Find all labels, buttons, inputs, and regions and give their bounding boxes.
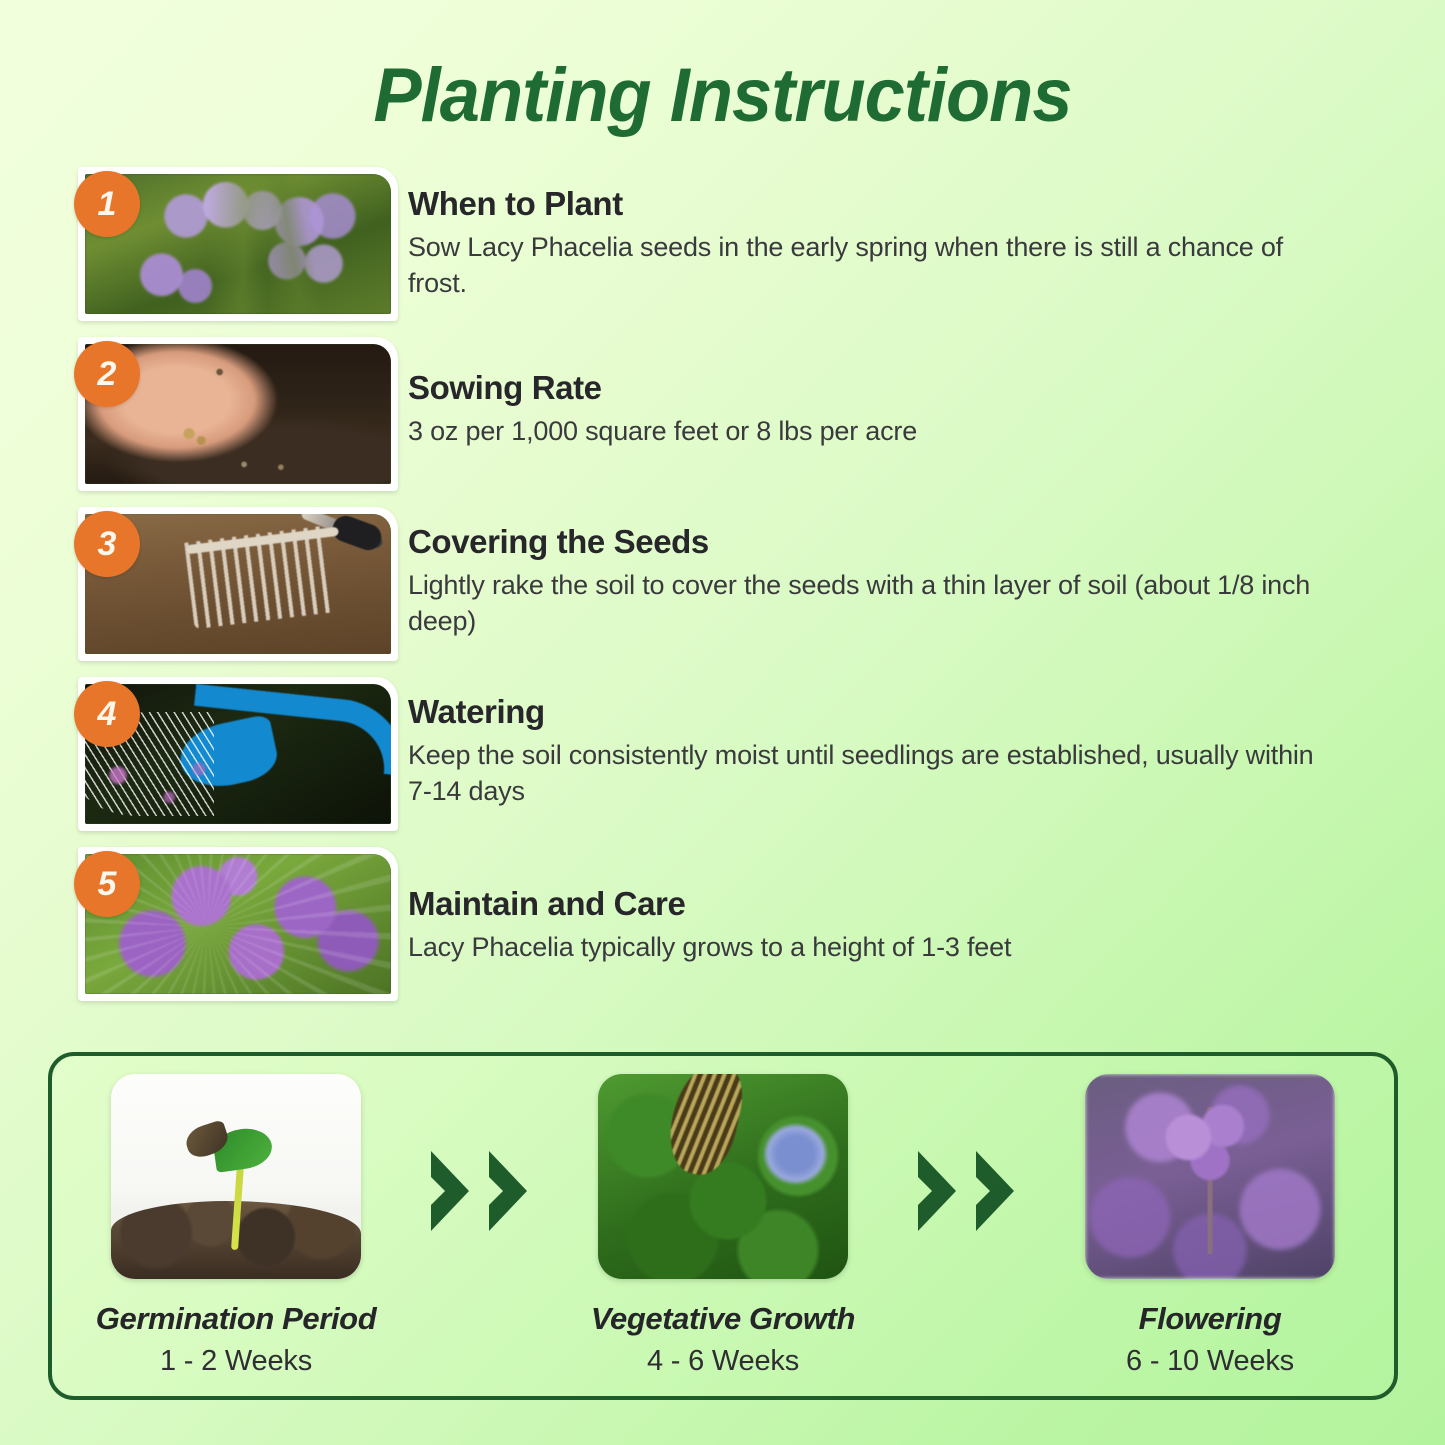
- step-number-badge-4: 4: [74, 681, 140, 747]
- step-text-3: Covering the Seeds Lightly rake the soil…: [350, 507, 1330, 640]
- step-item-3: 3 Covering the Seeds Lightly rake the so…: [0, 507, 1445, 677]
- step-title-5: Maintain and Care: [408, 885, 1011, 923]
- step-media-5: 5: [0, 847, 350, 1001]
- timeline-label-flowering: Flowering: [1139, 1301, 1282, 1337]
- timeline-label-germination: Germination Period: [96, 1301, 376, 1337]
- step-text-5: Maintain and Care Lacy Phacelia typicall…: [350, 847, 1011, 965]
- step-item-4: 4 Watering Keep the soil consistently mo…: [0, 677, 1445, 847]
- step-title-1: When to Plant: [408, 185, 1330, 223]
- timeline-stage-germination: Germination Period 1 - 2 Weeks: [86, 1074, 386, 1378]
- timeline-stage-vegetative: Vegetative Growth 4 - 6 Weeks: [573, 1074, 873, 1378]
- step-title-2: Sowing Rate: [408, 369, 917, 407]
- step-media-4: 4: [0, 677, 350, 831]
- timeline-duration-vegetative: 4 - 6 Weeks: [647, 1345, 799, 1378]
- step-number-badge-5: 5: [74, 851, 140, 917]
- timeline-stage-flowering: Flowering 6 - 10 Weeks: [1060, 1074, 1360, 1378]
- step-item-1: 1 When to Plant Sow Lacy Phacelia seeds …: [0, 167, 1445, 337]
- step-number-badge-2: 2: [74, 341, 140, 407]
- step-title-3: Covering the Seeds: [408, 523, 1330, 561]
- step-text-2: Sowing Rate 3 oz per 1,000 square feet o…: [350, 337, 917, 449]
- step-media-1: 1: [0, 167, 350, 321]
- timeline-duration-flowering: 6 - 10 Weeks: [1126, 1345, 1294, 1378]
- step-text-1: When to Plant Sow Lacy Phacelia seeds in…: [350, 167, 1330, 302]
- planting-steps-list: 1 When to Plant Sow Lacy Phacelia seeds …: [0, 167, 1445, 1017]
- growth-timeline-card: Germination Period 1 - 2 Weeks Vegetativ…: [48, 1052, 1398, 1400]
- step-description-5: Lacy Phacelia typically grows to a heigh…: [408, 929, 1011, 965]
- step-number-badge-3: 3: [74, 511, 140, 577]
- step-description-3: Lightly rake the soil to cover the seeds…: [408, 567, 1330, 640]
- timeline-duration-germination: 1 - 2 Weeks: [160, 1345, 312, 1378]
- flowering-field-photo: [1085, 1074, 1335, 1279]
- step-item-2: 2 Sowing Rate 3 oz per 1,000 square feet…: [0, 337, 1445, 507]
- seedling-sprout-photo: [111, 1074, 361, 1279]
- step-media-2: 2: [0, 337, 350, 491]
- page-title: Planting Instructions: [36, 0, 1409, 139]
- step-title-4: Watering: [408, 693, 1330, 731]
- timeline-label-vegetative: Vegetative Growth: [591, 1301, 855, 1337]
- double-chevron-right-icon: [425, 1147, 535, 1235]
- step-description-2: 3 oz per 1,000 square feet or 8 lbs per …: [408, 413, 917, 449]
- step-number-badge-1: 1: [74, 171, 140, 237]
- step-description-4: Keep the soil consistently moist until s…: [408, 737, 1330, 810]
- step-description-1: Sow Lacy Phacelia seeds in the early spr…: [408, 229, 1330, 302]
- step-media-3: 3: [0, 507, 350, 661]
- step-item-5: 5 Maintain and Care Lacy Phacelia typica…: [0, 847, 1445, 1017]
- step-text-4: Watering Keep the soil consistently mois…: [350, 677, 1330, 810]
- green-foliage-photo: [598, 1074, 848, 1279]
- double-chevron-right-icon-2: [912, 1147, 1022, 1235]
